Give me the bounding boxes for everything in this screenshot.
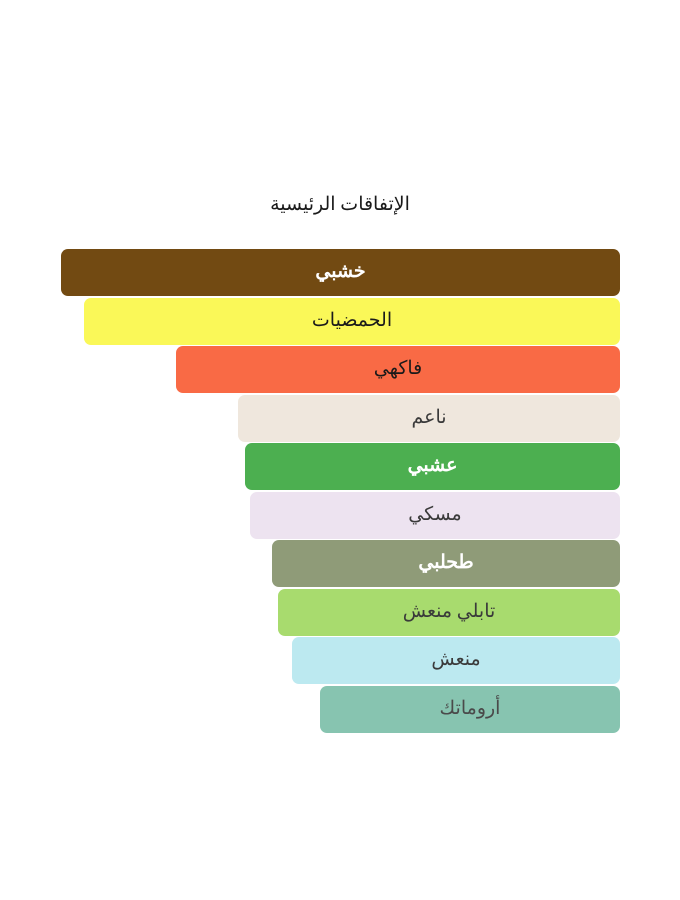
chart-page: الإتفاقات الرئيسية خشبيالحمضياتفاكهيناعم… xyxy=(0,0,680,900)
funnel-bar-label: عشبي xyxy=(408,456,458,475)
funnel-bar[interactable]: فاكهي xyxy=(176,346,620,393)
funnel-bar[interactable]: الحمضيات xyxy=(84,298,620,345)
funnel-bar-label: طحلبي xyxy=(418,553,473,572)
funnel-bar-label: منعش xyxy=(431,650,480,669)
funnel-chart: خشبيالحمضياتفاكهيناعمعشبيمسكيطحلبيتابلي … xyxy=(0,249,680,709)
chart-title: الإتفاقات الرئيسية xyxy=(0,193,680,216)
funnel-bar-label: الحمضيات xyxy=(312,311,392,330)
funnel-bar-label: ناعم xyxy=(411,408,446,427)
funnel-bar[interactable]: عشبي xyxy=(245,443,620,490)
funnel-bar-label: مسكي xyxy=(408,505,461,524)
funnel-bar-label: تابلي منعش xyxy=(403,602,496,621)
funnel-bar[interactable]: خشبي xyxy=(61,249,620,296)
funnel-bar-label: خشبي xyxy=(315,262,365,281)
funnel-bar[interactable]: تابلي منعش xyxy=(278,589,620,636)
funnel-bar-label: فاكهي xyxy=(374,359,423,378)
funnel-bar[interactable]: منعش xyxy=(292,637,620,684)
funnel-bar[interactable]: طحلبي xyxy=(272,540,620,587)
funnel-bar[interactable]: ناعم xyxy=(238,395,620,442)
funnel-bar[interactable]: أروماتك xyxy=(320,686,620,733)
funnel-bar-label: أروماتك xyxy=(440,699,501,718)
funnel-bar[interactable]: مسكي xyxy=(250,492,620,539)
